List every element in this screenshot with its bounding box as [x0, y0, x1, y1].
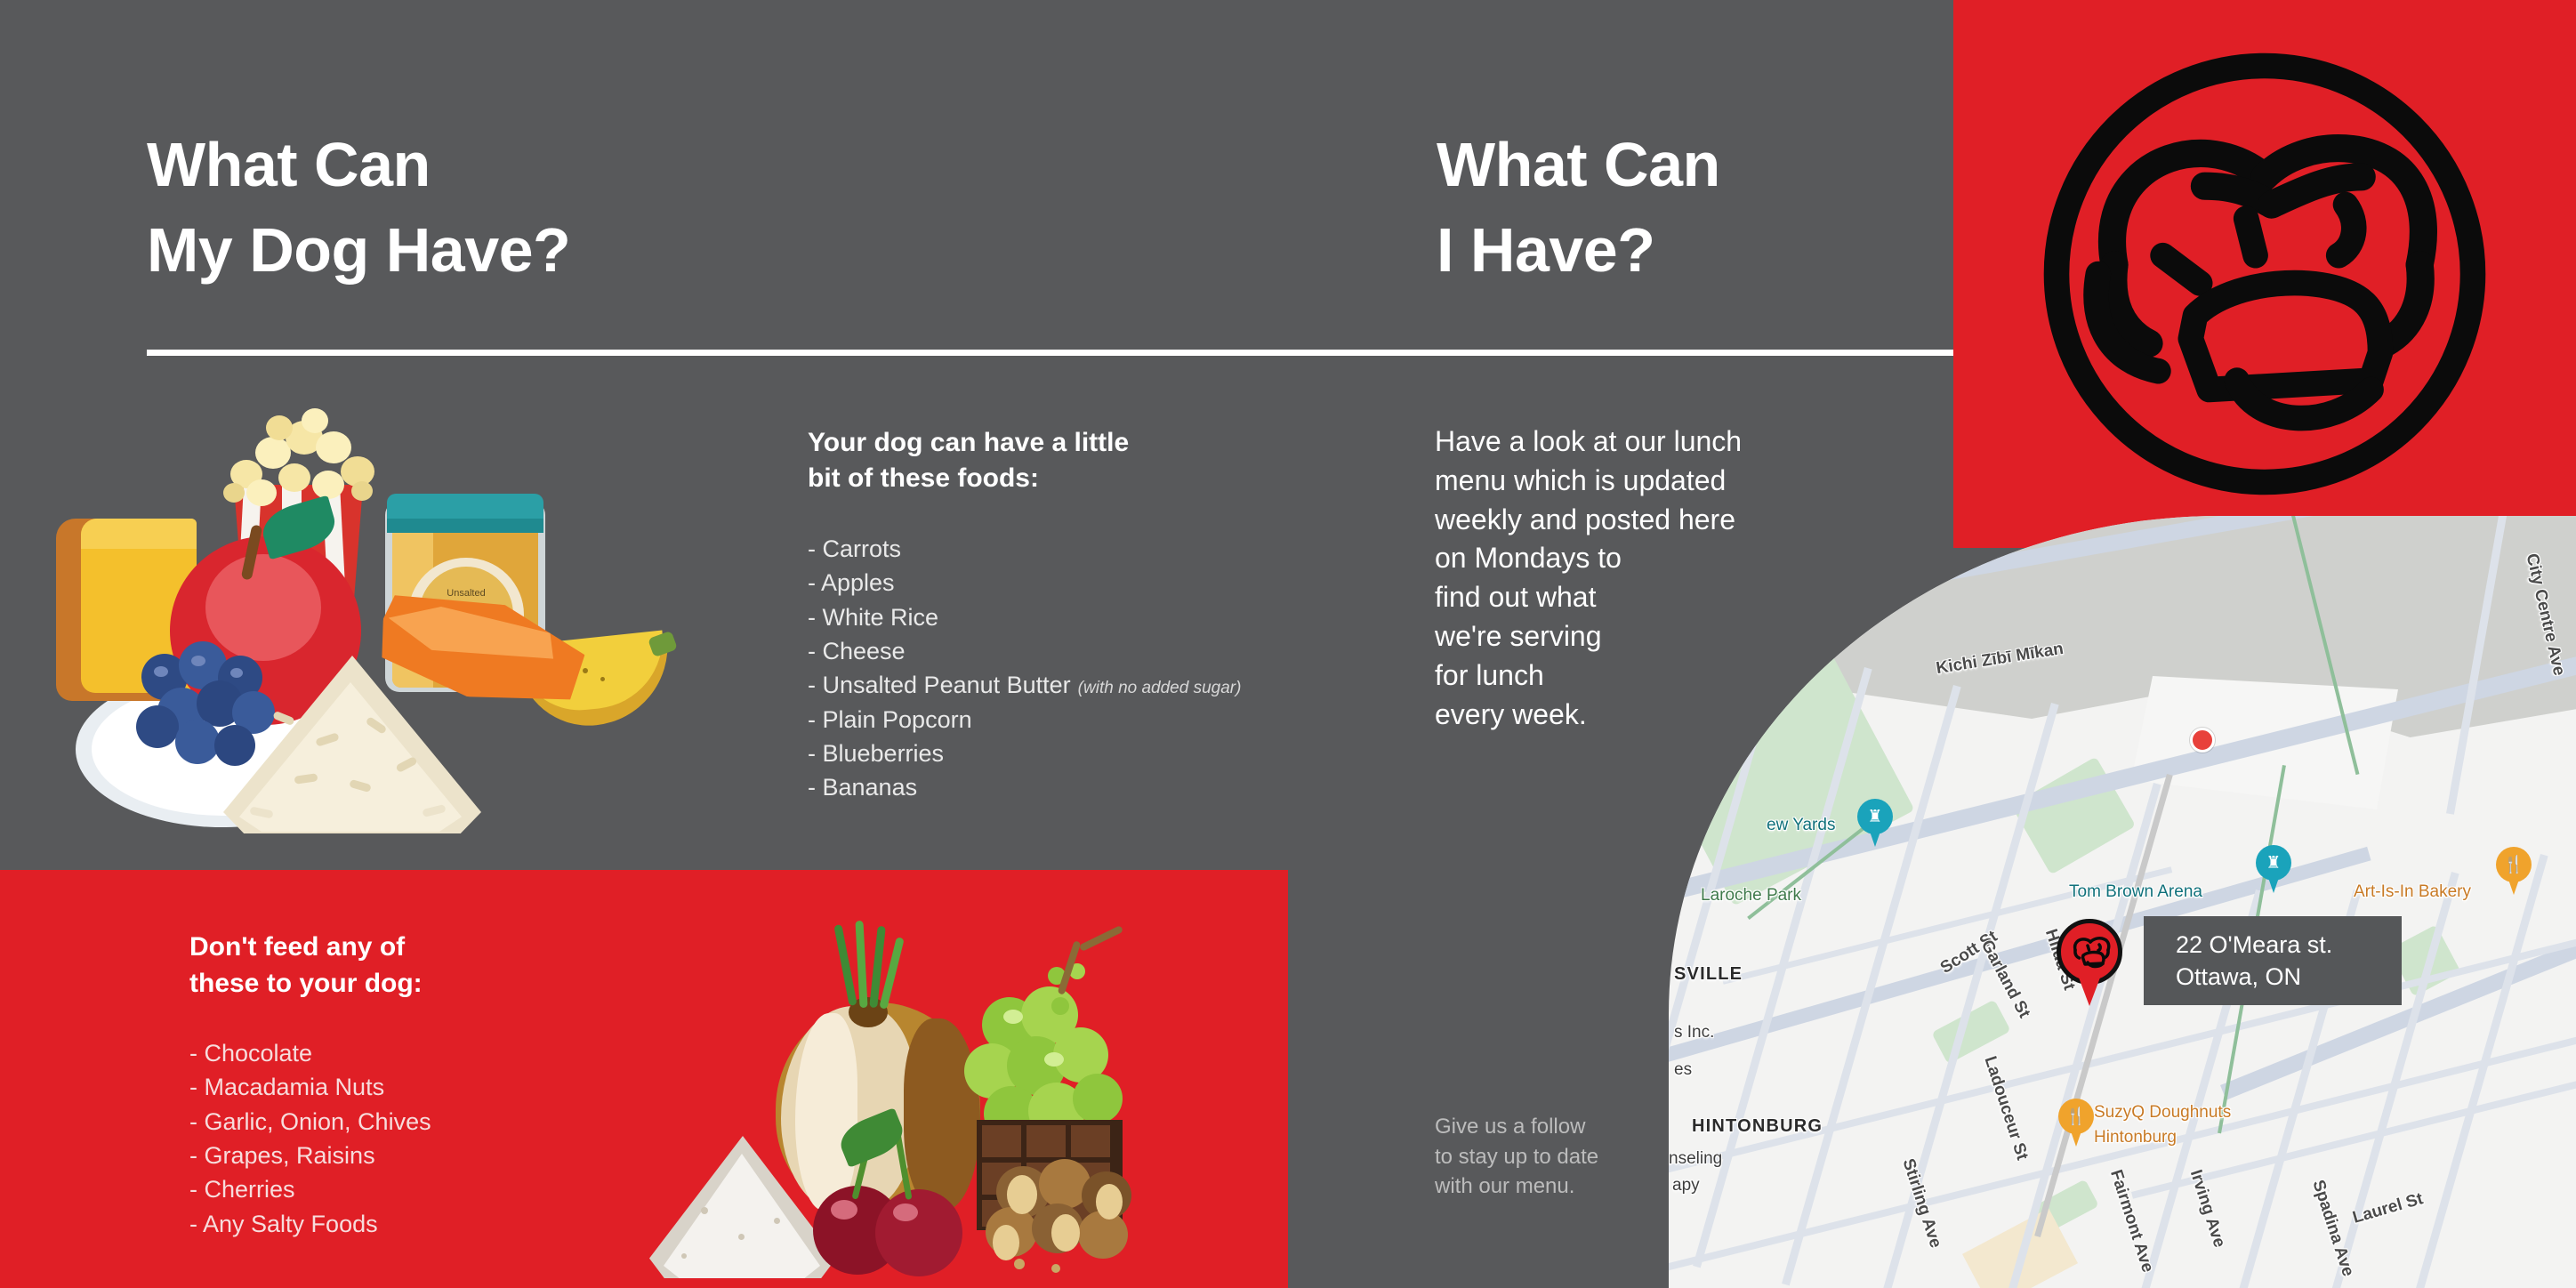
address-line-1: 22 O'Meara st.	[2176, 929, 2402, 961]
list-item: - Any Salty Foods	[189, 1207, 652, 1241]
list-item: - Cherries	[189, 1172, 652, 1206]
map-label-business-1: s Inc.	[1674, 1023, 1714, 1042]
brand-logo-panel	[1953, 0, 2576, 548]
map-label-tom-brown-arena: Tom Brown Arena	[2069, 882, 2202, 902]
map-label-new-yards: ew Yards	[1767, 816, 1835, 835]
lunch-copy-line: Have a look at our lunch	[1435, 423, 1817, 462]
map-pin-home-location[interactable]	[2057, 919, 2122, 1006]
page-title-dog: What Can My Dog Have?	[147, 133, 570, 281]
dog-safe-foods-illustration: Unsalted No Added Sweeteners	[49, 405, 672, 841]
page-title-me-line1: What Can	[1437, 130, 1720, 199]
list-item-note: (with no added sugar)	[1078, 679, 1242, 697]
map-label-mechanicsville: SVILLE	[1674, 964, 1743, 985]
dog-safe-heading-line1: Your dog can have a little	[808, 425, 1226, 461]
map-pin-new-yards[interactable]: ♜	[1857, 799, 1893, 847]
address-line-2: Ottawa, ON	[2176, 961, 2402, 993]
dog-safe-heading: Your dog can have a little bit of these …	[808, 425, 1226, 495]
page-title-dog-line1: What Can	[147, 130, 431, 199]
restaurant-icon: 🍴	[2496, 847, 2532, 882]
dog-unsafe-food-list: - Chocolate - Macadamia Nuts - Garlic, O…	[189, 1036, 652, 1241]
restaurant-icon: 🍴	[2058, 1099, 2094, 1134]
list-item: - Blueberries	[808, 737, 1270, 770]
list-item: - Bananas	[808, 770, 1270, 804]
map-label-laroche-park: Laroche Park	[1701, 886, 1801, 906]
jar-label-line1: Unsalted	[408, 588, 524, 599]
dog-unsafe-heading-line1: Don't feed any of	[189, 930, 563, 966]
map-pin-art-is-in-bakery[interactable]: 🍴	[2496, 847, 2532, 895]
castle-icon: ♜	[2256, 845, 2291, 881]
header-divider-rule	[147, 350, 1957, 356]
gorilla-head-logo-icon	[2033, 43, 2496, 505]
pin-tail	[2076, 970, 2103, 1006]
address-callout: 22 O'Meara st. Ottawa, ON	[2144, 916, 2402, 1005]
list-item: - Chocolate	[189, 1036, 652, 1070]
map-label-suzyq-doughnuts: SuzyQ Doughnuts	[2094, 1103, 2231, 1123]
page-title-me-line2: I Have?	[1437, 219, 1720, 281]
dog-unsafe-heading-line2: these to your dog:	[189, 966, 563, 1002]
dog-unsafe-heading: Don't feed any of these to your dog:	[189, 930, 563, 1002]
map-label-suzyq-hintonburg: Hintonburg	[2094, 1128, 2177, 1147]
castle-icon: ♜	[1857, 799, 1893, 834]
map-pin-tom-brown-arena[interactable]: ♜	[2256, 845, 2291, 893]
page-title-dog-line2: My Dog Have?	[147, 219, 570, 281]
dog-unsafe-foods-illustration	[633, 921, 1167, 1281]
list-item: - Macadamia Nuts	[189, 1070, 652, 1104]
poster-root: What Can My Dog Have? What Can I Have?	[0, 0, 2576, 1288]
page-title-me: What Can I Have?	[1437, 133, 1720, 281]
list-item: - Grapes, Raisins	[189, 1139, 652, 1172]
dog-safe-food-list: - Carrots - Apples - White Rice - Cheese…	[808, 532, 1270, 805]
map-label-business-2: es	[1674, 1060, 1692, 1080]
location-map[interactable]: ♜ ♜ 🍴 🍴 Kichi Zībī Mīkan ew Yards Laroch…	[1669, 516, 2576, 1288]
list-item: - Unsalted Peanut Butter(with no added s…	[808, 668, 1270, 702]
list-item: - Garlic, Onion, Chives	[189, 1105, 652, 1139]
dog-safe-heading-line2: bit of these foods:	[808, 461, 1226, 496]
map-label-hintonburg: HINTONBURG	[1692, 1116, 1823, 1137]
list-item: - Apples	[808, 566, 1270, 600]
map-label-art-is-in-bakery: Art-Is-In Bakery	[2354, 882, 2471, 902]
list-item: - White Rice	[808, 600, 1270, 634]
lunch-copy-line: menu which is updated	[1435, 462, 1817, 501]
list-item: - Carrots	[808, 532, 1270, 566]
gorilla-head-logo-icon	[2066, 930, 2113, 974]
map-poi-dot[interactable]	[2190, 728, 2215, 753]
map-label-business-3: nseling	[1669, 1149, 1722, 1169]
map-label-business-4: apy	[1672, 1176, 1700, 1195]
list-item: - Plain Popcorn	[808, 703, 1270, 737]
list-item: - Cheese	[808, 634, 1270, 668]
map-pin-suzyq-doughnuts[interactable]: 🍴	[2058, 1099, 2094, 1147]
